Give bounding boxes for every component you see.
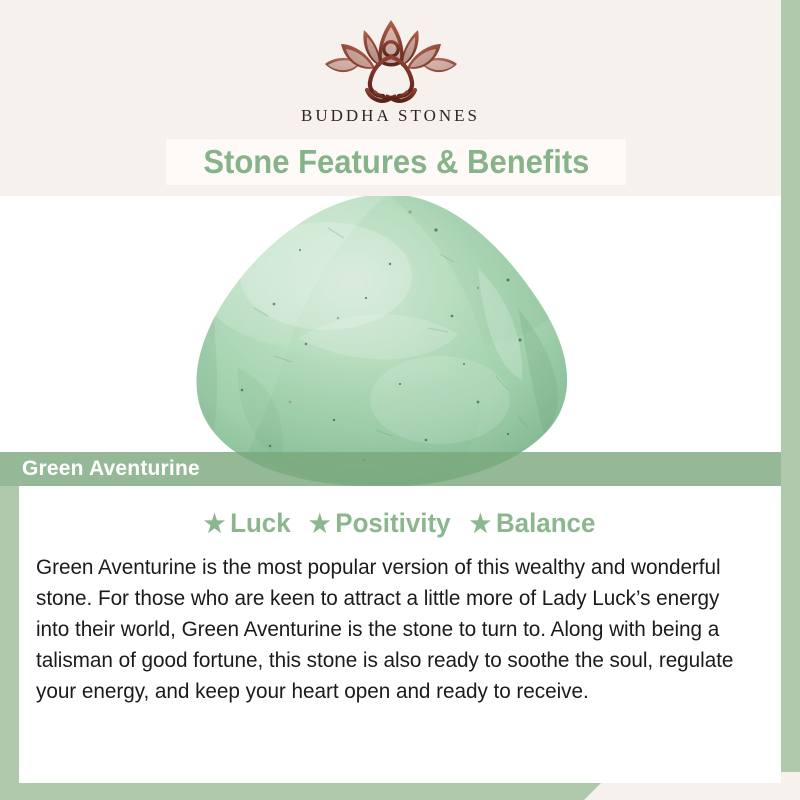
brand-logo: BUDDHA STONES [0, 18, 781, 138]
poster-root: BUDDHA STONES Stone Features & Benefits [0, 0, 800, 800]
page-title: Stone Features & Benefits [203, 143, 589, 181]
star-icon: ★ [203, 510, 225, 538]
brand-wordmark: BUDDHA STONES [301, 106, 480, 126]
stone-name: Green Aventurine [22, 457, 200, 481]
feature-label-luck: Luck [230, 508, 291, 538]
header: BUDDHA STONES Stone Features & Benefits [0, 0, 781, 196]
decorative-band-right [781, 0, 800, 772]
feature-item-luck: ★Luck [203, 508, 290, 539]
feature-label-balance: Balance [496, 508, 595, 538]
stone-photo [0, 196, 781, 486]
green-aventurine-stone-image [178, 196, 598, 486]
content-card: ★Luck★Positivity★Balance Green Aventurin… [19, 486, 781, 783]
feature-item-balance: ★Balance [470, 508, 596, 539]
title-banner: Stone Features & Benefits [166, 139, 626, 185]
feature-item-positivity: ★Positivity [309, 508, 451, 539]
feature-label-positivity: Positivity [335, 508, 450, 538]
decorative-band-bottom [0, 782, 602, 800]
lotus-meditation-logo-icon [317, 18, 465, 104]
star-icon: ★ [309, 510, 331, 538]
feature-list: ★Luck★Positivity★Balance [19, 508, 781, 539]
stone-description: Green Aventurine is the most popular ver… [36, 552, 740, 707]
stone-name-ribbon: Green Aventurine [0, 452, 781, 486]
star-icon: ★ [470, 510, 492, 538]
